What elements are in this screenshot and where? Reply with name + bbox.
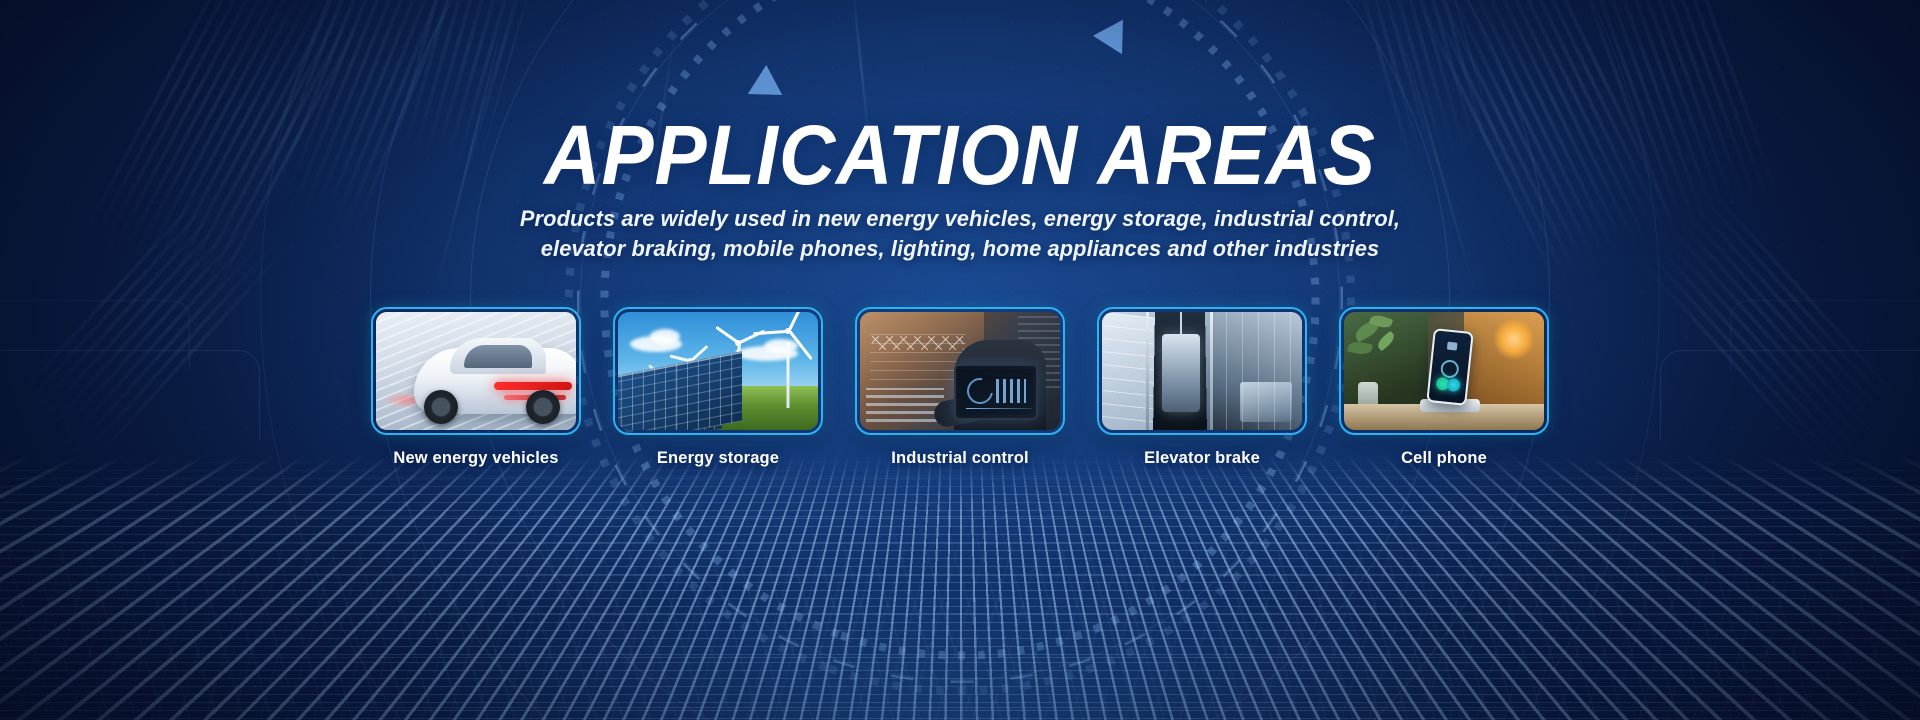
card-thumbnail-frame[interactable] xyxy=(1097,307,1307,435)
card-thumbnail-frame[interactable] xyxy=(613,307,823,435)
subtitle-line-1: Products are widely used in new energy v… xyxy=(29,204,1891,234)
application-card-new-energy-vehicles[interactable]: New energy vehicles xyxy=(371,307,581,468)
application-card-industrial-control[interactable]: Industrial control xyxy=(855,307,1065,468)
industrial-tablet-image xyxy=(860,312,1060,430)
card-thumbnail-frame[interactable] xyxy=(855,307,1065,435)
card-thumbnail-frame[interactable] xyxy=(1339,307,1549,435)
application-card-cell-phone[interactable]: Cell phone xyxy=(1339,307,1549,468)
card-label: Industrial control xyxy=(891,449,1028,468)
page-title: APPLICATION AREAS xyxy=(67,113,1853,197)
card-label: Energy storage xyxy=(657,449,779,468)
card-label: Elevator brake xyxy=(1144,449,1260,468)
application-card-elevator-brake[interactable]: Elevator brake xyxy=(1097,307,1307,468)
card-label: Cell phone xyxy=(1401,449,1487,468)
application-card-energy-storage[interactable]: Energy storage xyxy=(613,307,823,468)
card-thumbnail-frame[interactable] xyxy=(371,307,581,435)
banner-stage: APPLICATION AREAS Products are widely us… xyxy=(0,0,1920,720)
sports-car-image xyxy=(376,312,576,430)
subtitle-line-2: elevator braking, mobile phones, lightin… xyxy=(29,234,1891,264)
solar-wind-farm-image xyxy=(618,312,818,430)
application-cards-row: New energy vehicles xyxy=(0,307,1920,468)
elevator-shaft-image xyxy=(1102,312,1302,430)
banner-content: APPLICATION AREAS Products are widely us… xyxy=(0,0,1920,720)
page-subtitle: Products are widely used in new energy v… xyxy=(0,204,1920,264)
card-label: New energy vehicles xyxy=(393,449,558,468)
phone-wireless-charger-image xyxy=(1344,312,1544,430)
